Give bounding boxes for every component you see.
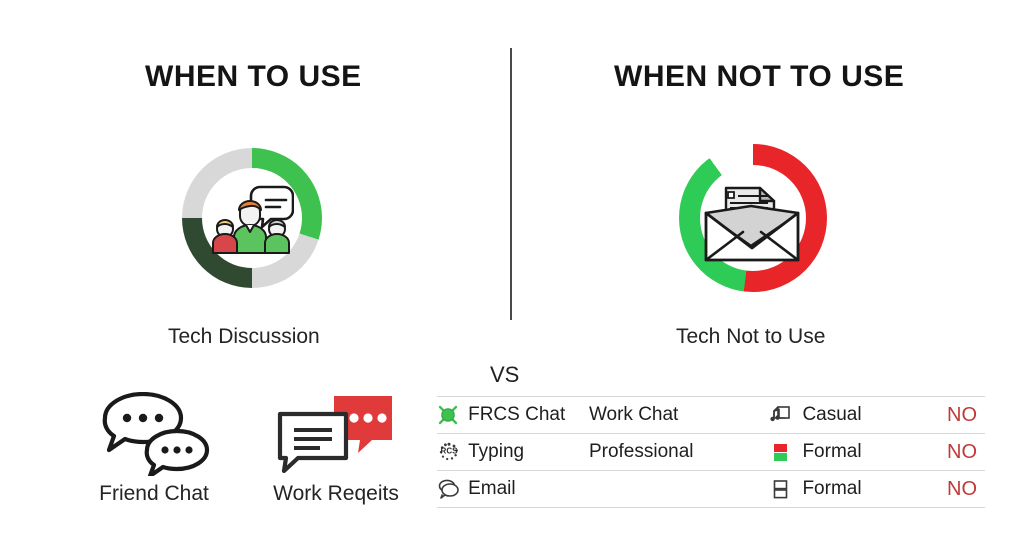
people-discussion-icon <box>210 181 294 255</box>
tone-label: Casual <box>796 404 918 426</box>
friend-chat-icon <box>92 392 216 478</box>
channel-label: FRCS Chat <box>466 404 569 426</box>
context-label: Professional <box>569 441 764 463</box>
table-row[interactable]: FRCS Chat Work Chat Casual NO <box>437 396 985 433</box>
left-donut-caption: Tech Discussion <box>168 325 320 349</box>
tone-label: Formal <box>796 441 918 463</box>
channel-label: Email <box>466 478 569 500</box>
work-requests-item: Work Reqeits <box>262 392 410 506</box>
rcs-typing-icon: RCS <box>437 441 466 463</box>
email-envelope-icon <box>698 170 808 266</box>
table-row[interactable]: RCS Typing Professional Formal NO <box>437 433 985 470</box>
table-row[interactable]: Email Formal NO <box>437 470 985 508</box>
people-discussion-donut <box>182 148 322 288</box>
speech-bubbles-icon <box>437 478 466 500</box>
page-title-when-to-use: WHEN TO USE <box>145 60 362 94</box>
svg-text:RCS: RCS <box>441 446 459 455</box>
work-requests-label: Work Reqeits <box>262 482 410 506</box>
vertical-divider <box>510 48 512 320</box>
verdict-label: NO <box>919 478 985 501</box>
friend-chat-label: Friend Chat <box>92 482 216 506</box>
email-donut <box>679 144 827 292</box>
work-requests-icon <box>262 392 410 478</box>
right-donut-caption: Tech Not to Use <box>676 325 825 349</box>
tone-label: Formal <box>796 478 918 500</box>
friend-chat-item: Friend Chat <box>92 392 216 506</box>
comparison-table: FRCS Chat Work Chat Casual NO <box>437 396 985 508</box>
vs-label: VS <box>490 362 519 388</box>
stacked-blocks-icon <box>763 478 796 500</box>
red-green-blocks-icon <box>763 441 796 463</box>
music-note-icon <box>763 404 796 426</box>
page-title-when-not-to-use: WHEN NOT TO USE <box>614 60 904 94</box>
green-pin-icon <box>437 404 466 426</box>
verdict-label: NO <box>919 441 985 464</box>
verdict-label: NO <box>919 404 985 427</box>
channel-label: Typing <box>466 441 569 463</box>
context-label: Work Chat <box>569 404 764 426</box>
